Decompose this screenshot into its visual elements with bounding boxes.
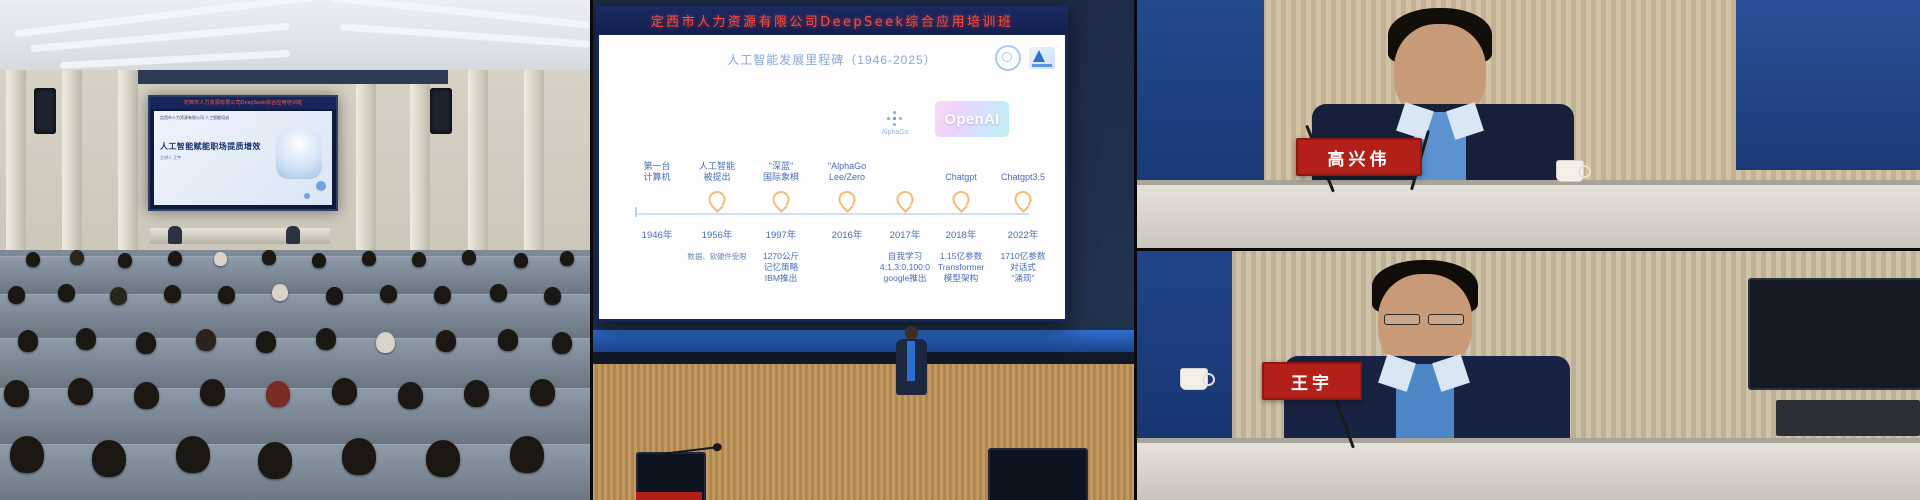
alphago-icon	[887, 111, 903, 127]
timeline-node-label: 第一台 计算机	[643, 161, 670, 183]
note-line: 4:1,3:0,100:0	[880, 262, 930, 273]
timeline-node-year: 2018年	[946, 227, 977, 241]
audience-head	[552, 332, 572, 354]
label-line: Lee/Zero	[828, 172, 866, 183]
audience-head	[68, 378, 93, 405]
hall-projection-screen: 定西市人力资源有限公司DeepSeek综合应用培训班 定西市人力资源有限公司 人…	[148, 95, 338, 211]
ceiling-band	[15, 0, 314, 37]
alphago-caption: AlphaGo	[871, 129, 919, 136]
audience-head	[412, 252, 426, 267]
timeline-node-note: 1710亿参数 对话式 "涌现"	[1001, 251, 1046, 284]
nameplate-top-text: 高兴伟	[1328, 145, 1391, 170]
audience-head	[342, 438, 376, 475]
timeline-axis	[635, 213, 1029, 215]
speaker-bottom-figure	[1278, 260, 1618, 460]
label-line: Chatgpt	[945, 172, 977, 183]
audience-head	[134, 382, 159, 409]
speaker-top-panel: 高兴伟	[1136, 0, 1920, 250]
openai-caption: OpenAI	[944, 111, 999, 128]
note-line: 1.15亿参数	[938, 251, 984, 262]
wall-column	[6, 70, 26, 260]
robot-graphic	[276, 127, 322, 179]
note-line: 对话式	[1001, 262, 1046, 273]
slide-banner-text: 定西市人力资源有限公司DeepSeek综合应用培训班	[651, 11, 1013, 30]
map-pin-icon	[953, 191, 970, 208]
slide-logos	[995, 45, 1055, 71]
audience-head	[272, 284, 288, 301]
audience-head	[436, 330, 456, 352]
timeline-node-label: 人工智能 被提出	[699, 161, 735, 183]
timeline-node-label: Chatgpt	[945, 172, 977, 183]
audience-head	[490, 284, 507, 302]
timeline-node-year: 2017年	[890, 227, 921, 241]
audience-head	[462, 250, 476, 265]
slide-canvas: 人工智能发展里程碑（1946-2025） AlphaGo OpenAI	[599, 35, 1065, 319]
audience-head	[312, 253, 326, 268]
audience-head	[168, 251, 182, 266]
audience-head	[498, 329, 518, 351]
audience-head	[426, 440, 460, 477]
note-line: IBM推出	[763, 273, 799, 284]
glasses-icon	[1384, 314, 1420, 325]
presenter-figure	[894, 326, 928, 406]
audience-head	[362, 251, 376, 266]
label-line: 第一台	[643, 161, 670, 172]
audience-head	[8, 286, 25, 304]
monitor	[1748, 278, 1920, 390]
timeline-node-year: 1946年	[642, 227, 673, 241]
audience-head	[434, 286, 451, 304]
audience-head	[514, 253, 528, 268]
label-line: 国际象棋	[763, 172, 799, 183]
audience-head	[544, 287, 561, 305]
label-line: "深蓝"	[763, 161, 799, 172]
audience-head	[136, 332, 156, 354]
audience-head	[176, 436, 210, 473]
audience-head	[196, 329, 216, 351]
audience-head	[118, 253, 132, 268]
wall-trim	[138, 70, 448, 84]
map-pin-icon	[1015, 191, 1032, 208]
glasses-icon	[1428, 314, 1464, 325]
screenshot-stage: 定西市人力资源有限公司DeepSeek综合应用培训班 定西市人力资源有限公司 人…	[0, 0, 1920, 500]
hall-screen-mini-heading: 人工智能赋能职场提质增效	[160, 141, 261, 152]
blue-wall-right	[1736, 0, 1920, 170]
map-pin-icon	[839, 191, 856, 208]
note-line: 1710亿参数	[1001, 251, 1046, 262]
audience-head	[326, 287, 343, 305]
label-line: "AlphaGo	[828, 161, 866, 172]
timeline-node-year: 2022年	[1008, 227, 1039, 241]
ring-logo-icon	[995, 45, 1021, 71]
wall-column	[468, 70, 488, 260]
tea-cup	[1556, 160, 1584, 182]
hall-screen-mini-title: 定西市人力资源有限公司 人工智能培训	[160, 115, 229, 121]
ceiling-band	[330, 0, 589, 29]
tea-cup	[1180, 368, 1208, 390]
map-pin-icon	[709, 191, 726, 208]
speaker-bottom-panel: 王宇	[1136, 250, 1920, 500]
hall-screen-content: 定西市人力资源有限公司 人工智能培训 人工智能赋能职场提质增效 主讲人 王宇	[154, 111, 332, 205]
label-line: 被提出	[699, 172, 735, 183]
nameplate-bottom: 王宇	[1262, 362, 1362, 400]
note-line: 记忆策略	[763, 262, 799, 273]
audience-head	[266, 381, 290, 407]
audience-head	[560, 251, 574, 266]
audience-area	[0, 250, 592, 500]
audience-head	[214, 252, 227, 266]
openai-badge: OpenAI	[935, 101, 1009, 137]
presenter-head	[905, 326, 918, 340]
ceiling-band	[340, 23, 590, 47]
nameplate-top: 高兴伟	[1296, 138, 1422, 176]
audience-head	[316, 328, 336, 350]
audience-head	[92, 440, 126, 477]
wall-column	[524, 70, 544, 260]
ceiling-band	[60, 50, 290, 69]
wall-column	[62, 70, 82, 260]
square-logo-icon	[1029, 47, 1055, 69]
speaker-bottom-desk	[1136, 438, 1920, 500]
audience-head	[218, 286, 235, 304]
decor-dot	[304, 193, 310, 199]
hall-screen-banner-text: 定西市人力资源有限公司DeepSeek综合应用培训班	[150, 97, 336, 109]
panel-divider-horizontal	[1136, 248, 1920, 251]
timeline-node-note: 自我学习 4:1,3:0,100:0 google推出	[880, 251, 930, 284]
audience-head	[464, 380, 489, 407]
slide-banner: 定西市人力资源有限公司DeepSeek综合应用培训班	[596, 6, 1068, 34]
timeline-node-year: 1956年	[702, 227, 733, 241]
speaker-top-desk	[1136, 180, 1920, 250]
wall-column	[410, 70, 430, 260]
audience-head	[10, 436, 44, 473]
stage-backdrop-glow	[592, 330, 1136, 354]
laptop	[1776, 400, 1920, 436]
note-line: google推出	[880, 273, 930, 284]
audience-head	[26, 252, 40, 267]
label-line: 人工智能	[699, 161, 735, 172]
seat-row	[0, 444, 592, 500]
label-line: Chatgpt3.5	[1001, 172, 1045, 183]
note-line: Transformer	[938, 262, 984, 273]
audience-head	[258, 442, 292, 479]
alphago-badge: AlphaGo	[871, 111, 919, 136]
label-line: 计算机	[643, 172, 670, 183]
audience-head	[530, 379, 555, 406]
map-pin-icon	[897, 191, 914, 208]
stage-red-strip	[636, 492, 702, 500]
audience-head	[510, 436, 544, 473]
audience-head	[76, 328, 96, 350]
timeline-node-year: 2016年	[832, 227, 863, 241]
audience-head	[200, 379, 225, 406]
stage-person	[286, 226, 300, 244]
auditorium-wide-panel: 定西市人力资源有限公司DeepSeek综合应用培训班 定西市人力资源有限公司 人…	[0, 0, 592, 500]
audience-head	[256, 331, 276, 353]
timeline-node-label: "深蓝" 国际象棋	[763, 161, 799, 183]
timeline-node-note: 数据、软硬件受限	[687, 251, 746, 262]
wall-column	[356, 70, 376, 260]
timeline-node-label: "AlphaGo Lee/Zero	[828, 161, 866, 183]
presenter-shirt	[907, 341, 915, 381]
audience-head	[398, 382, 423, 409]
nameplate-bottom-text: 王宇	[1291, 369, 1333, 394]
audience-head	[4, 380, 29, 407]
speaker-box-left	[34, 88, 56, 134]
audience-head	[332, 378, 357, 405]
wall-column	[118, 70, 138, 260]
audience-head	[18, 330, 38, 352]
timeline-node-note: 1270公斤 记忆策略 IBM推出	[763, 251, 799, 284]
projection-screen: 定西市人力资源有限公司DeepSeek综合应用培训班 人工智能发展里程碑（194…	[596, 6, 1068, 322]
audience-head	[110, 287, 127, 305]
audience-head	[376, 332, 395, 353]
stage-person	[168, 226, 182, 244]
panel-divider-vertical-left	[590, 0, 593, 500]
audience-head	[58, 284, 75, 302]
timeline-node-year: 1997年	[766, 227, 797, 241]
map-pin-icon	[773, 191, 790, 208]
timeline-axis-start-tick	[635, 207, 637, 217]
projected-slide-panel: 定西市人力资源有限公司DeepSeek综合应用培训班 人工智能发展里程碑（194…	[592, 0, 1136, 500]
stage-monitor-right	[988, 448, 1088, 500]
desk-edge	[1136, 438, 1920, 443]
note-line: 模型架构	[938, 273, 984, 284]
timeline-node-label: Chatgpt3.5	[1001, 172, 1045, 183]
hall-screen-mini-sub: 主讲人 王宇	[160, 155, 181, 161]
audience-head	[70, 250, 84, 265]
desk-edge	[1136, 180, 1920, 185]
decor-dot	[316, 181, 326, 191]
timeline-node-note: 1.15亿参数 Transformer 模型架构	[938, 251, 984, 284]
audience-head	[164, 285, 181, 303]
note-line: 1270公斤	[763, 251, 799, 262]
audience-head	[262, 250, 276, 265]
note-line: "涌现"	[1001, 273, 1046, 284]
note-line: 自我学习	[880, 251, 930, 262]
audience-head	[380, 285, 397, 303]
speaker-box-right	[430, 88, 452, 134]
